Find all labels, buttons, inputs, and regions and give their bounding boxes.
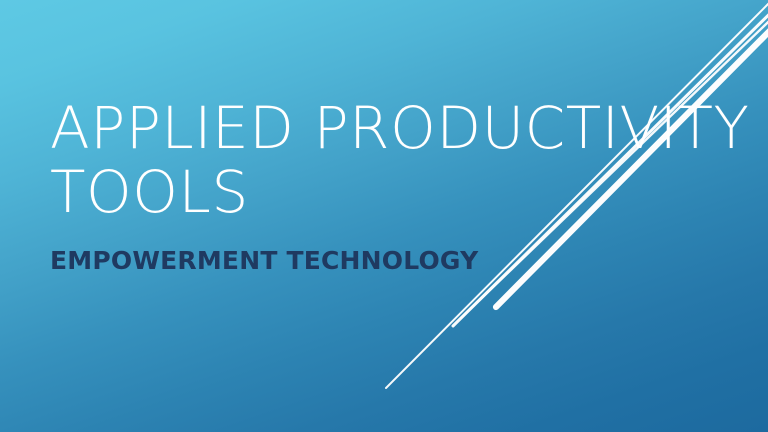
title-line-1: APPLIED PRODUCTIVITY — [50, 96, 650, 160]
title-line-2: TOOLS — [50, 160, 650, 224]
presentation-slide: APPLIED PRODUCTIVITY TOOLS EMPOWERMENT T… — [0, 0, 768, 432]
page-title: APPLIED PRODUCTIVITY TOOLS — [50, 96, 650, 224]
slide-subtitle: EMPOWERMENT TECHNOLOGY — [50, 246, 478, 276]
